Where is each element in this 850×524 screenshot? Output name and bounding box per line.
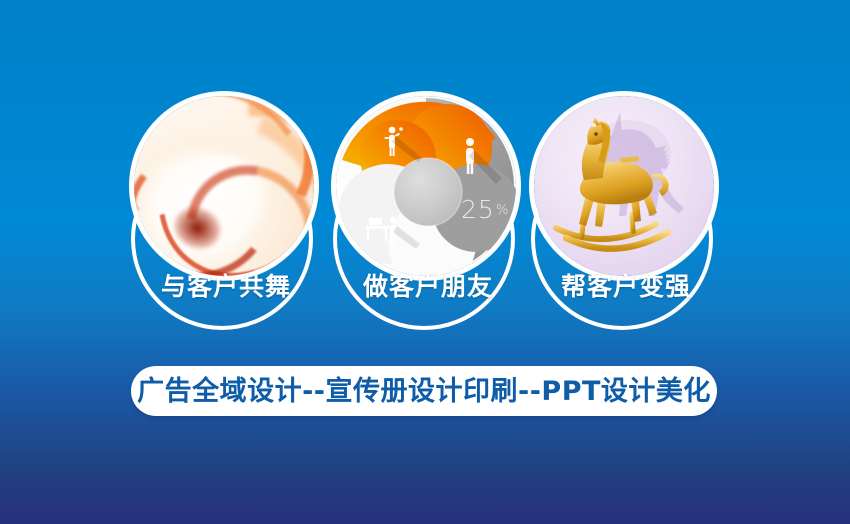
caption-light-1: 与客户	[161, 272, 239, 301]
artwork-orange-smoke-swirl	[134, 96, 314, 276]
circle-photo-horse	[534, 96, 714, 276]
rocking-horse-svg	[534, 96, 714, 276]
artwork-pie-chart-infographic: 25 %	[336, 96, 516, 276]
horse-eye	[594, 132, 598, 136]
poster-canvas: 与客户共舞	[0, 0, 850, 524]
banner-text: 广告全域设计--宣传册设计印刷--PPT设计美化	[137, 378, 711, 405]
circle-group: 与客户共舞	[0, 0, 850, 360]
caption-light-3: 帮客户	[561, 272, 639, 301]
bottom-banner[interactable]: 广告全域设计--宣传册设计印刷--PPT设计美化	[131, 366, 717, 416]
circle-photo-pie: 25 %	[336, 96, 516, 276]
circle-caption-1: 与客户共舞	[128, 272, 324, 302]
circle-item-dance-with-client[interactable]: 与客户共舞	[128, 96, 324, 346]
pie-chart-svg: 25 %	[336, 96, 516, 276]
caption-heavy-1: 共舞	[239, 272, 291, 301]
pie-percent-value: 25	[461, 195, 495, 224]
pie-percent-suffix: %	[496, 203, 508, 218]
artwork-golden-rocking-horse	[534, 96, 714, 276]
circle-caption-3: 帮客户变强	[528, 272, 724, 302]
circle-photo-smoke	[134, 96, 314, 276]
caption-light-2: 做客户	[363, 272, 441, 301]
circle-item-befriend-client[interactable]: 25 % 做客户朋友	[330, 96, 526, 346]
caption-heavy-2: 朋友	[441, 272, 493, 301]
circle-item-strengthen-client[interactable]: 帮客户变强	[528, 96, 724, 346]
caption-heavy-3: 变强	[639, 272, 691, 301]
circle-caption-2: 做客户朋友	[330, 272, 526, 302]
